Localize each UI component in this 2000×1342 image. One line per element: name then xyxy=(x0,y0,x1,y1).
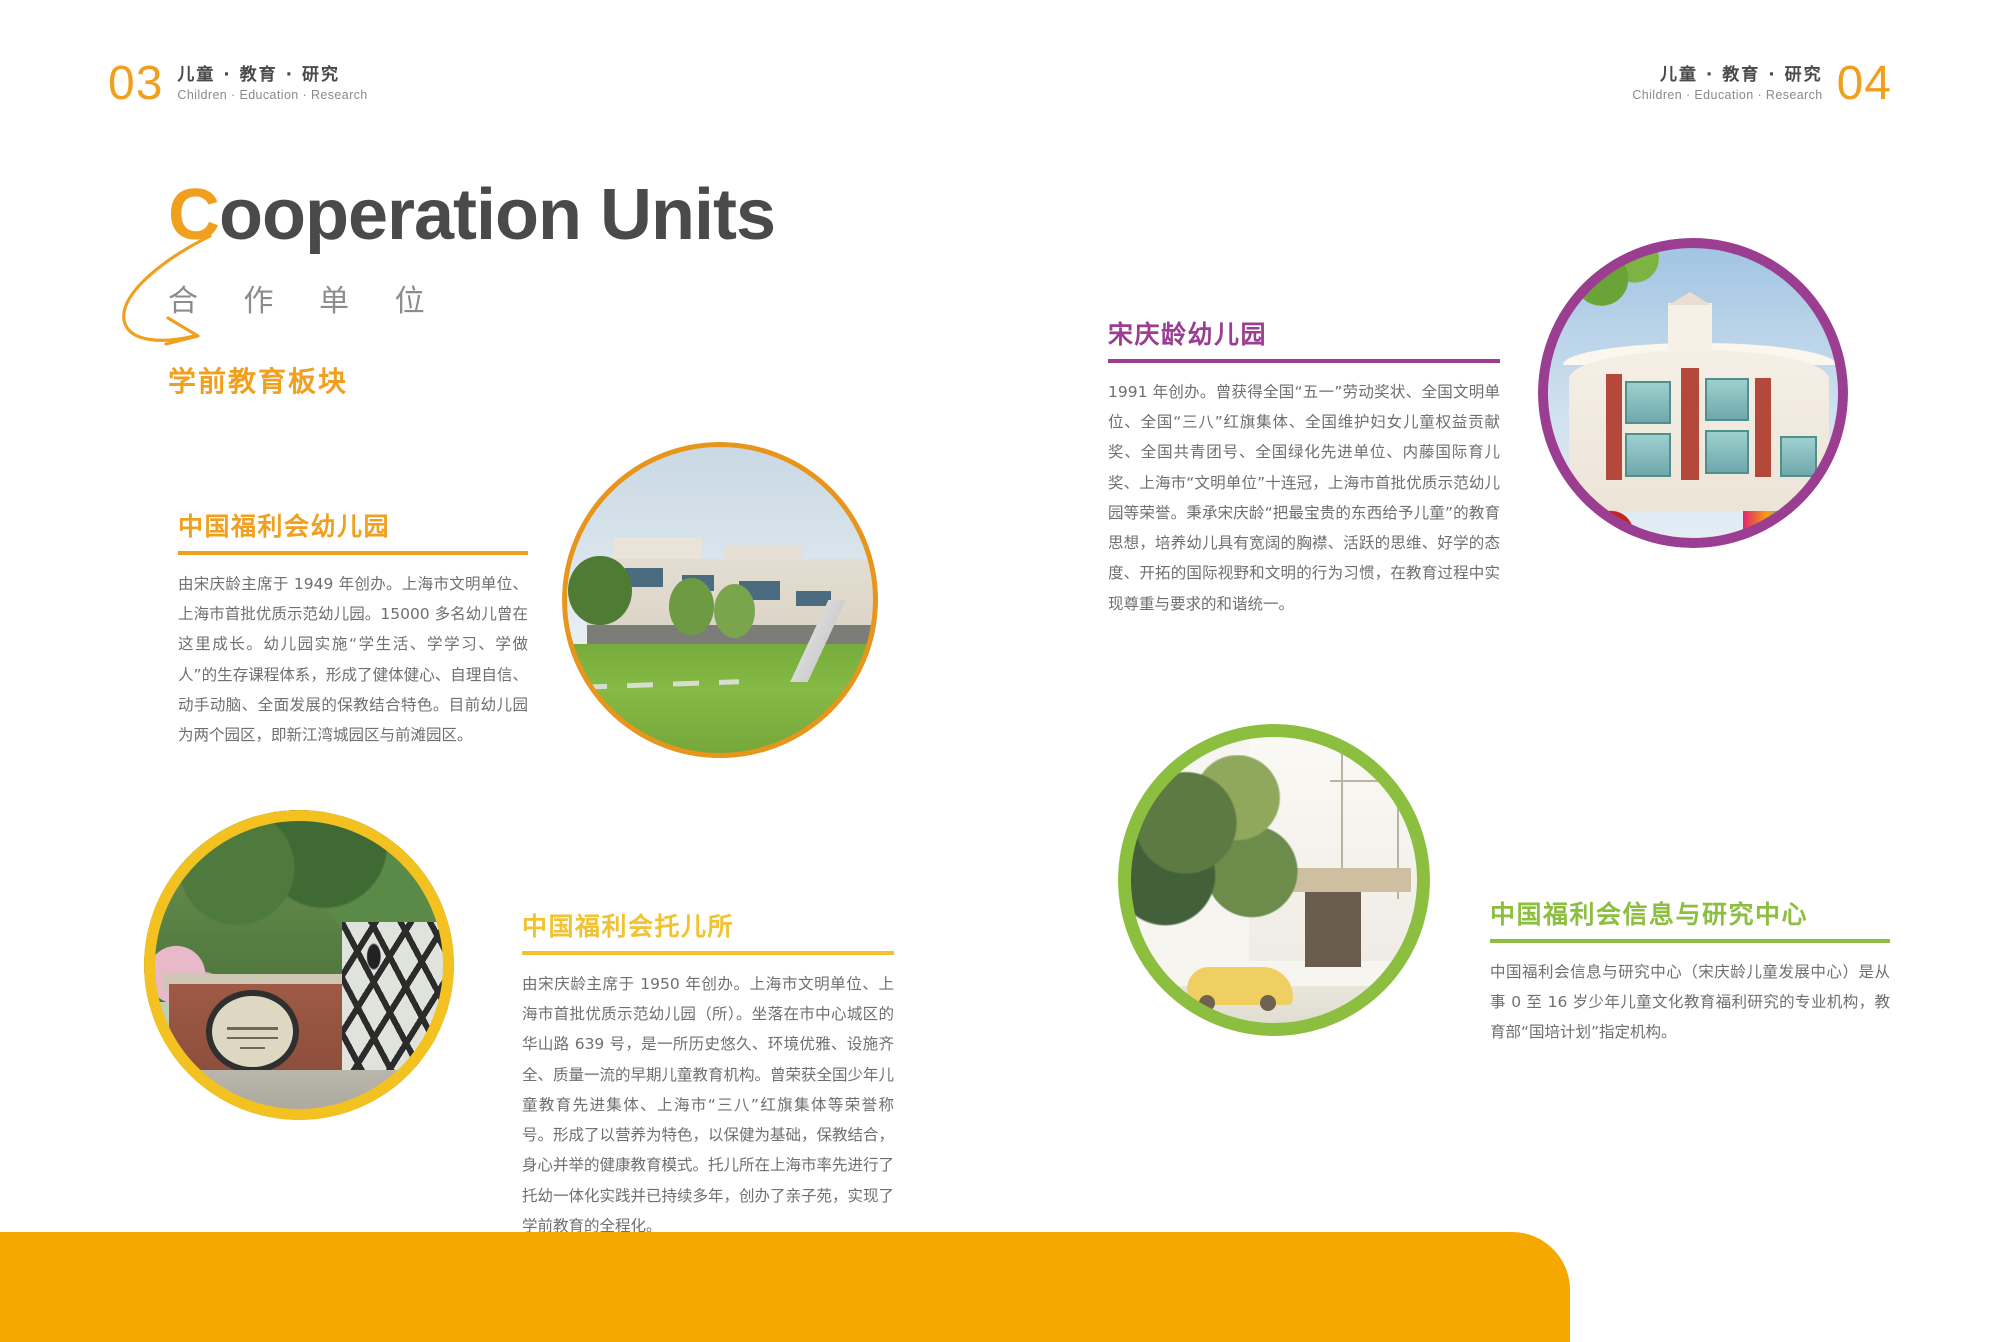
page-header-right: 儿童 · 教育 · 研究 Children · Education · Rese… xyxy=(1632,60,1892,108)
hero-title-block: Cooperation Units 合 作 单 位 学前教育板块 xyxy=(168,178,775,400)
unit-title: 中国福利会信息与研究中心 xyxy=(1490,900,1890,930)
unit-block-cwi-nursery: 中国福利会托儿所 由宋庆龄主席于 1950 年创办。上海市文明单位、上海市首批优… xyxy=(522,912,894,1241)
header-tagline-en-right: Children · Education · Research xyxy=(1632,87,1822,105)
photo-art xyxy=(144,810,454,1120)
photo-cwi-info-research-center xyxy=(1118,724,1430,1036)
unit-block-soong-ching-ling-kindergarten: 宋庆龄幼儿园 1991 年创办。曾获得全国“五一”劳动奖状、全国文明单位、全国“… xyxy=(1108,320,1500,619)
header-tagline-en-left: Children · Education · Research xyxy=(177,87,367,105)
unit-title: 中国福利会托儿所 xyxy=(522,912,894,942)
page-title-rest: ooperation Units xyxy=(219,175,775,255)
unit-description: 由宋庆龄主席于 1949 年创办。上海市文明单位、上海市首批优质示范幼儿园。15… xyxy=(178,569,528,750)
header-tagline-cn-left: 儿童 · 教育 · 研究 xyxy=(177,64,340,87)
folio-number-right: 04 xyxy=(1837,60,1892,108)
unit-description: 1991 年创办。曾获得全国“五一”劳动奖状、全国文明单位、全国“三八”红旗集体… xyxy=(1108,377,1500,619)
header-tagline-cn-right: 儿童 · 教育 · 研究 xyxy=(1660,64,1823,87)
photo-cwi-kindergarten xyxy=(562,442,878,758)
unit-title: 中国福利会幼儿园 xyxy=(178,512,528,542)
photo-cwi-nursery xyxy=(144,810,454,1120)
bottom-color-banner xyxy=(0,1232,1570,1342)
title-rule xyxy=(522,951,894,955)
page-header-left: 03 儿童 · 教育 · 研究 Children · Education · R… xyxy=(108,60,368,108)
section-label: 学前教育板块 xyxy=(168,360,775,400)
illustration-car xyxy=(1187,967,1293,1004)
photo-art xyxy=(1118,724,1430,1036)
nursery-sign xyxy=(206,990,299,1074)
page-title-initial: C xyxy=(168,175,219,255)
unit-description: 中国福利会信息与研究中心（宋庆龄儿童发展中心）是从事 0 至 16 岁少年儿童文… xyxy=(1490,957,1890,1048)
unit-title: 宋庆龄幼儿园 xyxy=(1108,320,1500,350)
folio-number-left: 03 xyxy=(108,60,163,108)
title-rule xyxy=(178,551,528,555)
photo-art xyxy=(562,442,878,758)
unit-block-cwi-kindergarten: 中国福利会幼儿园 由宋庆龄主席于 1949 年创办。上海市文明单位、上海市首批优… xyxy=(178,512,528,750)
unit-block-cwi-info-research-center: 中国福利会信息与研究中心 中国福利会信息与研究中心（宋庆龄儿童发展中心）是从事 … xyxy=(1490,900,1890,1048)
photo-art xyxy=(1538,238,1848,548)
unit-description: 由宋庆龄主席于 1950 年创办。上海市文明单位、上海市首批优质示范幼儿园（所）… xyxy=(522,969,894,1241)
page-subtitle-cn: 合 作 单 位 xyxy=(168,276,775,320)
title-rule xyxy=(1108,359,1500,363)
page-title: Cooperation Units xyxy=(168,178,775,254)
photo-soong-ching-ling-kindergarten xyxy=(1538,238,1848,548)
title-rule xyxy=(1490,939,1890,943)
